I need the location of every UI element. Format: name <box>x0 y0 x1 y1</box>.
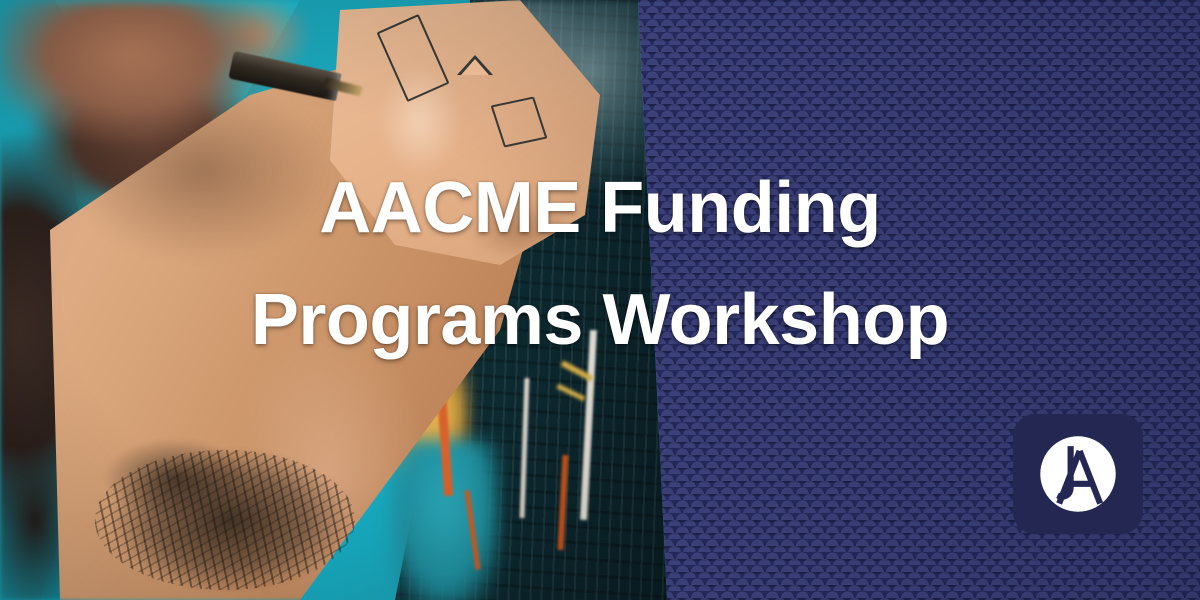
headline-line-1: AACME Funding <box>0 152 1200 264</box>
headline-line-2: Programs Workshop <box>0 264 1200 376</box>
aacme-monogram-a-icon <box>1037 433 1119 515</box>
organizer-logo <box>1013 414 1143 534</box>
event-banner: AACME Funding Programs Workshop <box>0 0 1200 600</box>
banner-headline: AACME Funding Programs Workshop <box>0 152 1200 376</box>
